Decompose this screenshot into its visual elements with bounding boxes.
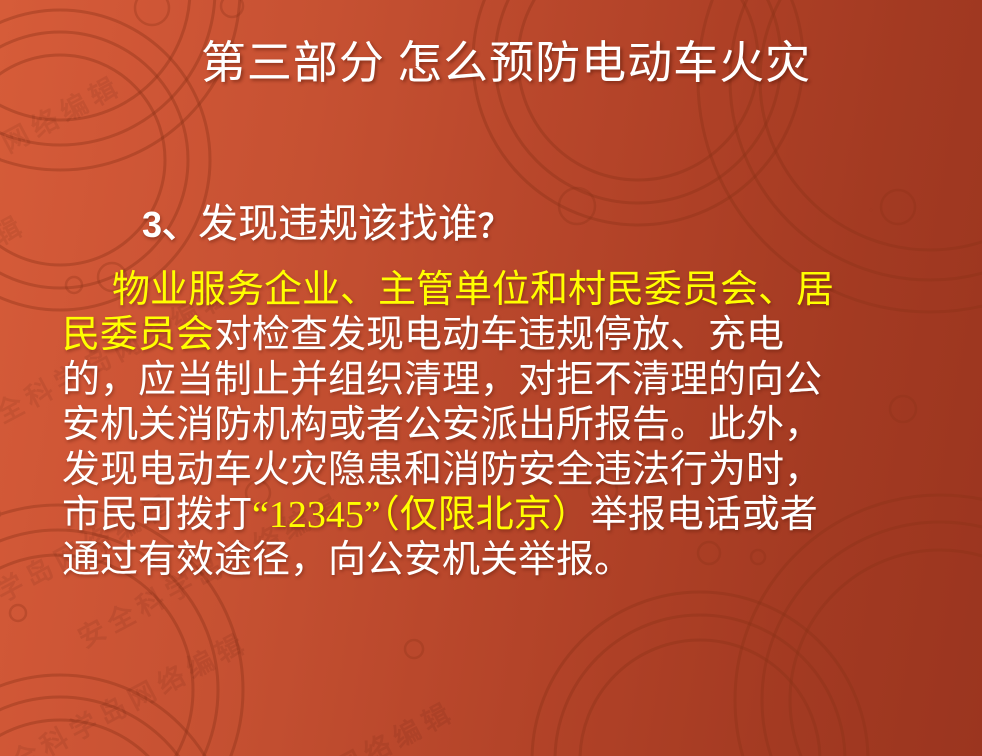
section-heading-text: 发现违规该找谁 [198,201,478,246]
body-highlight-hotline: “12345”（仅限北京） [252,494,590,536]
body-paragraph: 物业服务企业、主管单位和村民委员会、居民委员会对检查发现电动车违规停放、充电的，… [62,268,852,583]
page-title: 第三部分 怎么预防电动车火灾 [0,36,982,90]
section-number: 3、 [142,204,198,245]
section-heading-question-mark: ？ [478,208,510,244]
slide-content: 第三部分 怎么预防电动车火灾 3、发现违规该找谁？ 物业服务企业、主管单位和村民… [0,0,982,756]
section-heading: 3、发现违规该找谁？ [142,199,510,249]
presentation-slide: 安全科学岛网络编辑 安全科学岛网络编辑 安全科学岛网络编辑 安全科学岛网络编辑 … [0,0,982,756]
